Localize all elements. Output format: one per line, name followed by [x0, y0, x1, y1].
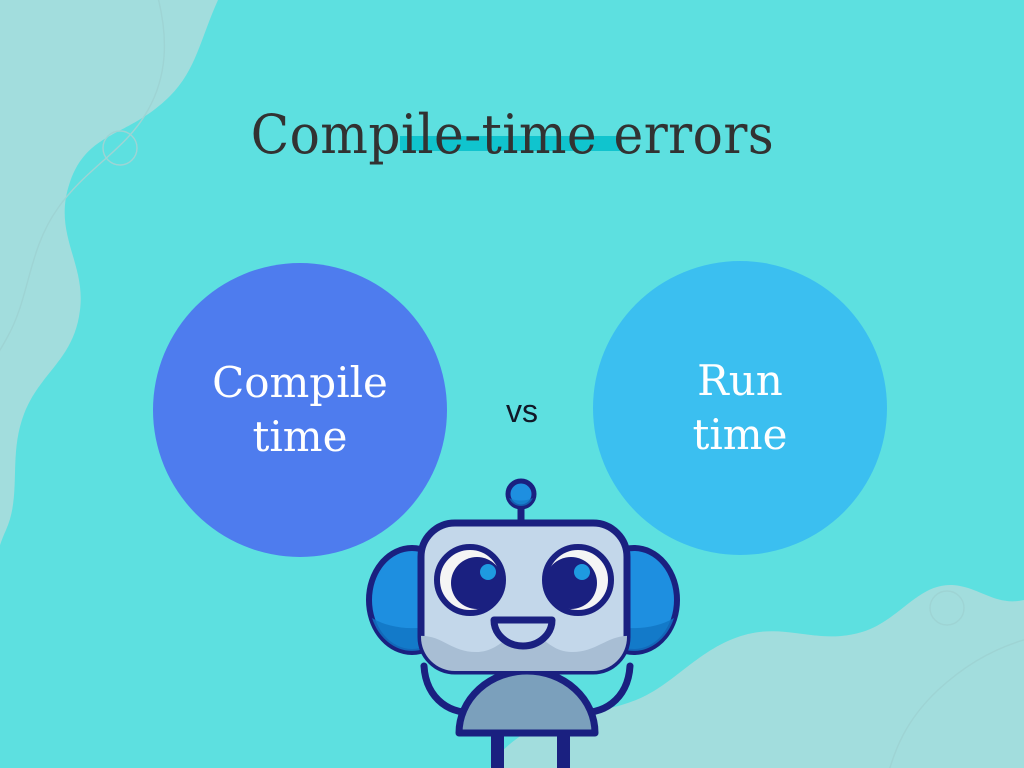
bubble-run-time-label: Run time	[693, 354, 788, 462]
bubble-compile-time[interactable]: Compile time	[153, 263, 447, 557]
page-title: Compile-time errors	[250, 108, 773, 162]
vs-label: vs	[472, 395, 572, 427]
decor-blob-bottom-right	[490, 585, 1024, 768]
slide-canvas: Compile-time errors Compile time vs Run …	[0, 0, 1024, 768]
title-block: Compile-time errors	[0, 72, 1024, 198]
bubble-run-time[interactable]: Run time	[593, 261, 887, 555]
bubble-compile-time-label: Compile time	[212, 356, 388, 464]
